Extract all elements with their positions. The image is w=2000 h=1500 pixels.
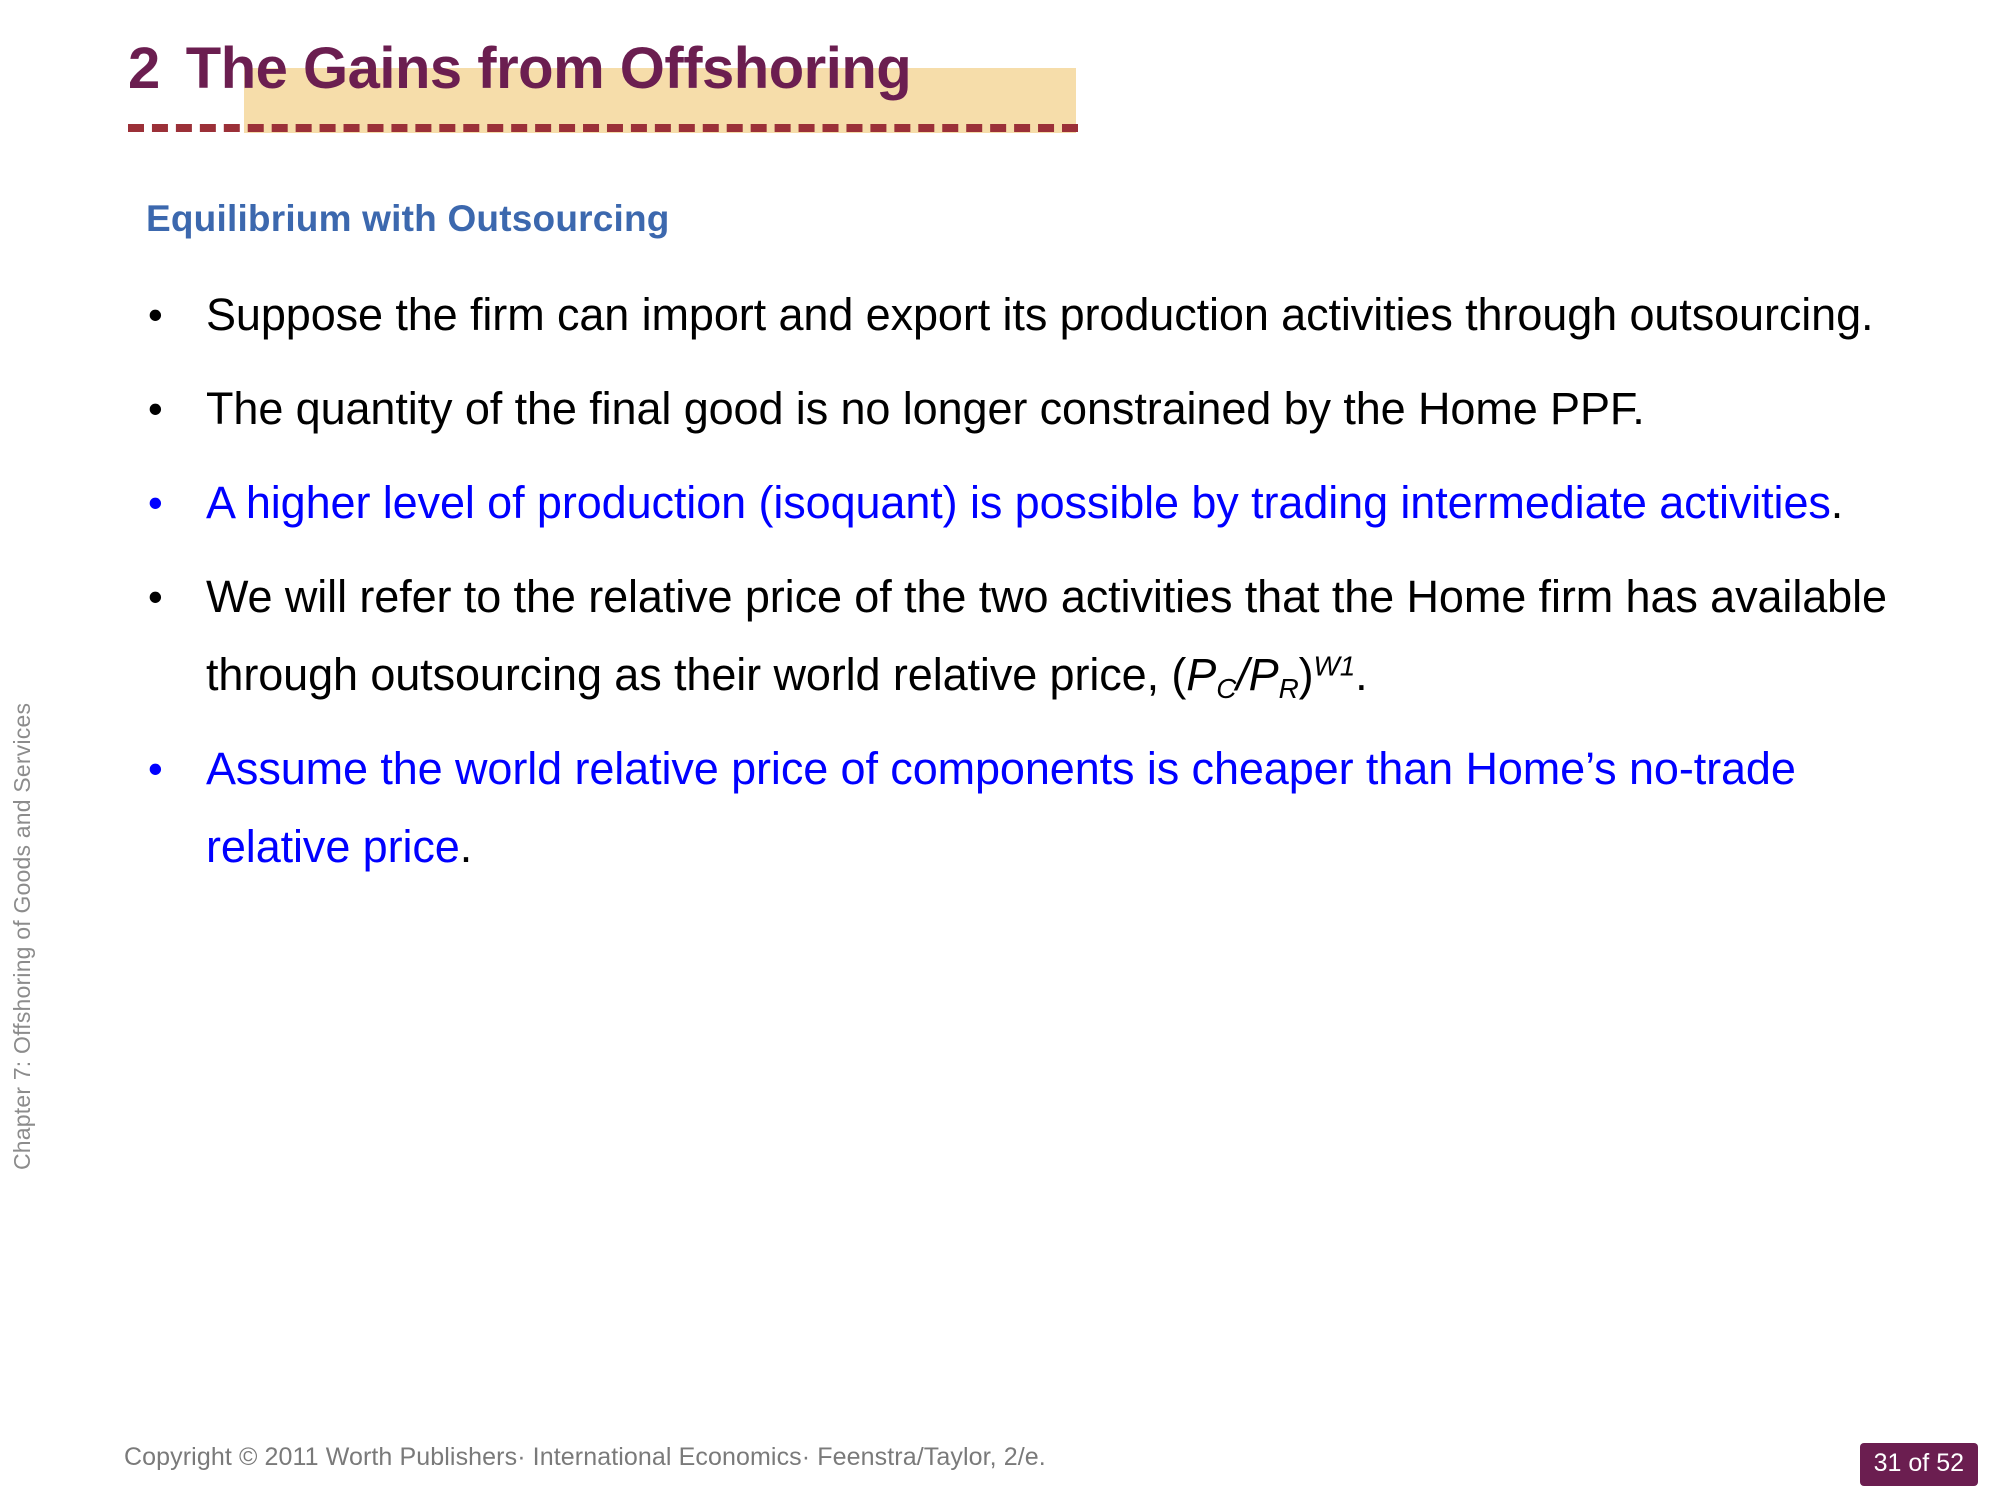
copyright-notice: Copyright © 2011 Worth Publishers· Inter… [124,1443,1046,1472]
math-open-paren: ( [1171,649,1186,700]
math-numerator-base: P [1186,649,1216,700]
math-numerator-subscript: C [1216,673,1236,704]
bullet-text-tail: . [1355,649,1367,700]
bullet-text: The quantity of the final good is no lon… [206,370,1928,448]
chapter-rail-label: Chapter 7: Offshoring of Goods and Servi… [9,703,36,1170]
bullet-marker-icon [128,464,206,542]
chapter-rail: Chapter 7: Offshoring of Goods and Servi… [0,0,96,1500]
bullet-text: A higher level of production (isoquant) … [206,464,1928,542]
bullet-marker-icon [128,276,206,354]
bullet-text: Suppose the firm can import and export i… [206,276,1928,354]
page-number-badge: 31 of 52 [1860,1443,1978,1486]
list-item: Suppose the firm can import and export i… [128,276,1928,354]
bullet-trailing-punctuation: . [1831,477,1843,528]
bullet-marker-icon [128,558,206,636]
math-denominator-subscript: R [1279,673,1299,704]
bullet-text-emphasis: Assume the world relative price of compo… [206,743,1796,872]
bullet-list: Suppose the firm can import and export i… [128,276,1928,902]
list-item: Assume the world relative price of compo… [128,730,1928,886]
math-superscript: W1 [1314,651,1356,682]
math-slash: / [1236,649,1248,700]
bullet-text-lead: We will refer to the relative price of t… [206,571,1887,700]
slide-title-block: 2The Gains from Offshoring [128,40,1128,98]
title-row: 2The Gains from Offshoring [128,40,911,98]
title-text: The Gains from Offshoring [186,36,911,101]
section-number: 2 [128,40,160,98]
bullet-text: Assume the world relative price of compo… [206,730,1928,886]
title-divider [128,124,1078,132]
list-item: A higher level of production (isoquant) … [128,464,1928,542]
section-subtitle: Equilibrium with Outsourcing [146,198,670,240]
math-close-paren: ) [1299,649,1314,700]
bullet-marker-icon [128,730,206,808]
bullet-trailing-punctuation: . [460,821,472,872]
math-denominator-base: P [1249,649,1279,700]
bullet-text-emphasis: A higher level of production (isoquant) … [206,477,1831,528]
page-title: 2The Gains from Offshoring [128,40,911,98]
bullet-marker-icon [128,370,206,448]
list-item: We will refer to the relative price of t… [128,558,1928,714]
list-item: The quantity of the final good is no lon… [128,370,1928,448]
math-expression-relative-price: (PC/PR)W1 [1171,649,1355,700]
bullet-text: We will refer to the relative price of t… [206,558,1928,714]
